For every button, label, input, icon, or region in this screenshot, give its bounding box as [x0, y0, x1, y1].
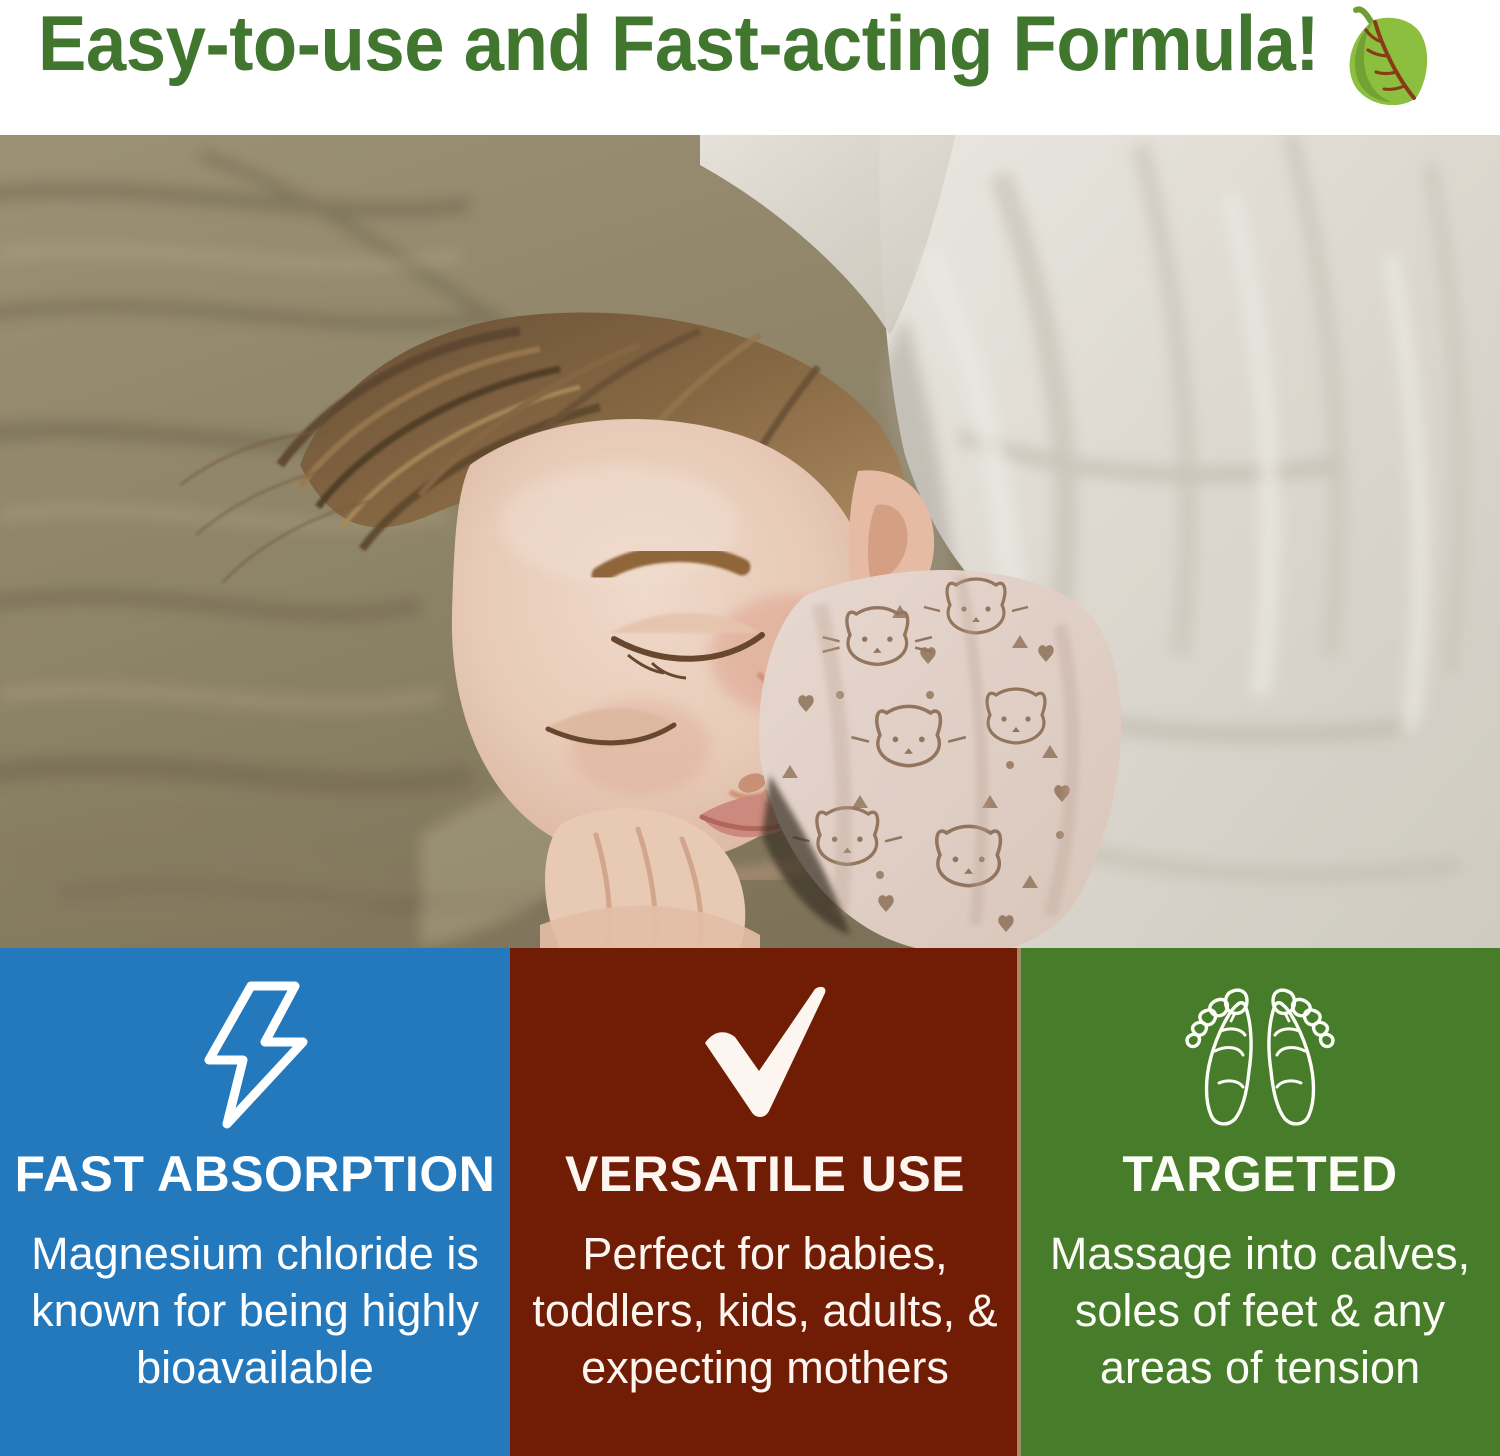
checkmark-icon — [695, 972, 835, 1137]
feature-panels: FAST ABSORPTION Magnesium chloride is kn… — [0, 948, 1500, 1456]
panel-divider — [1017, 948, 1021, 1456]
panel-heading: TARGETED — [1122, 1145, 1397, 1203]
hero-photo-sleeping-child — [0, 135, 1500, 948]
feet-soles-icon — [1185, 972, 1335, 1137]
feature-panel-fast-absorption: FAST ABSORPTION Magnesium chloride is kn… — [0, 948, 510, 1456]
page-title: Easy-to-use and Fast-acting Formula! — [38, 0, 1319, 88]
lightning-bolt-icon — [199, 972, 311, 1137]
panel-heading: FAST ABSORPTION — [15, 1145, 496, 1203]
panel-body-text: Massage into calves, soles of feet & any… — [1020, 1225, 1500, 1396]
header-banner: Easy-to-use and Fast-acting Formula! — [0, 0, 1500, 135]
panel-heading: VERSATILE USE — [565, 1145, 965, 1203]
panel-body-text: Magnesium chloride is known for being hi… — [0, 1225, 510, 1396]
feature-panel-versatile-use: VERSATILE USE Perfect for babies, toddle… — [510, 948, 1020, 1456]
leaf-icon — [1330, 2, 1450, 114]
feature-panel-targeted: TARGETED Massage into calves, soles of f… — [1020, 948, 1500, 1456]
panel-body-text: Perfect for babies, toddlers, kids, adul… — [510, 1225, 1020, 1396]
